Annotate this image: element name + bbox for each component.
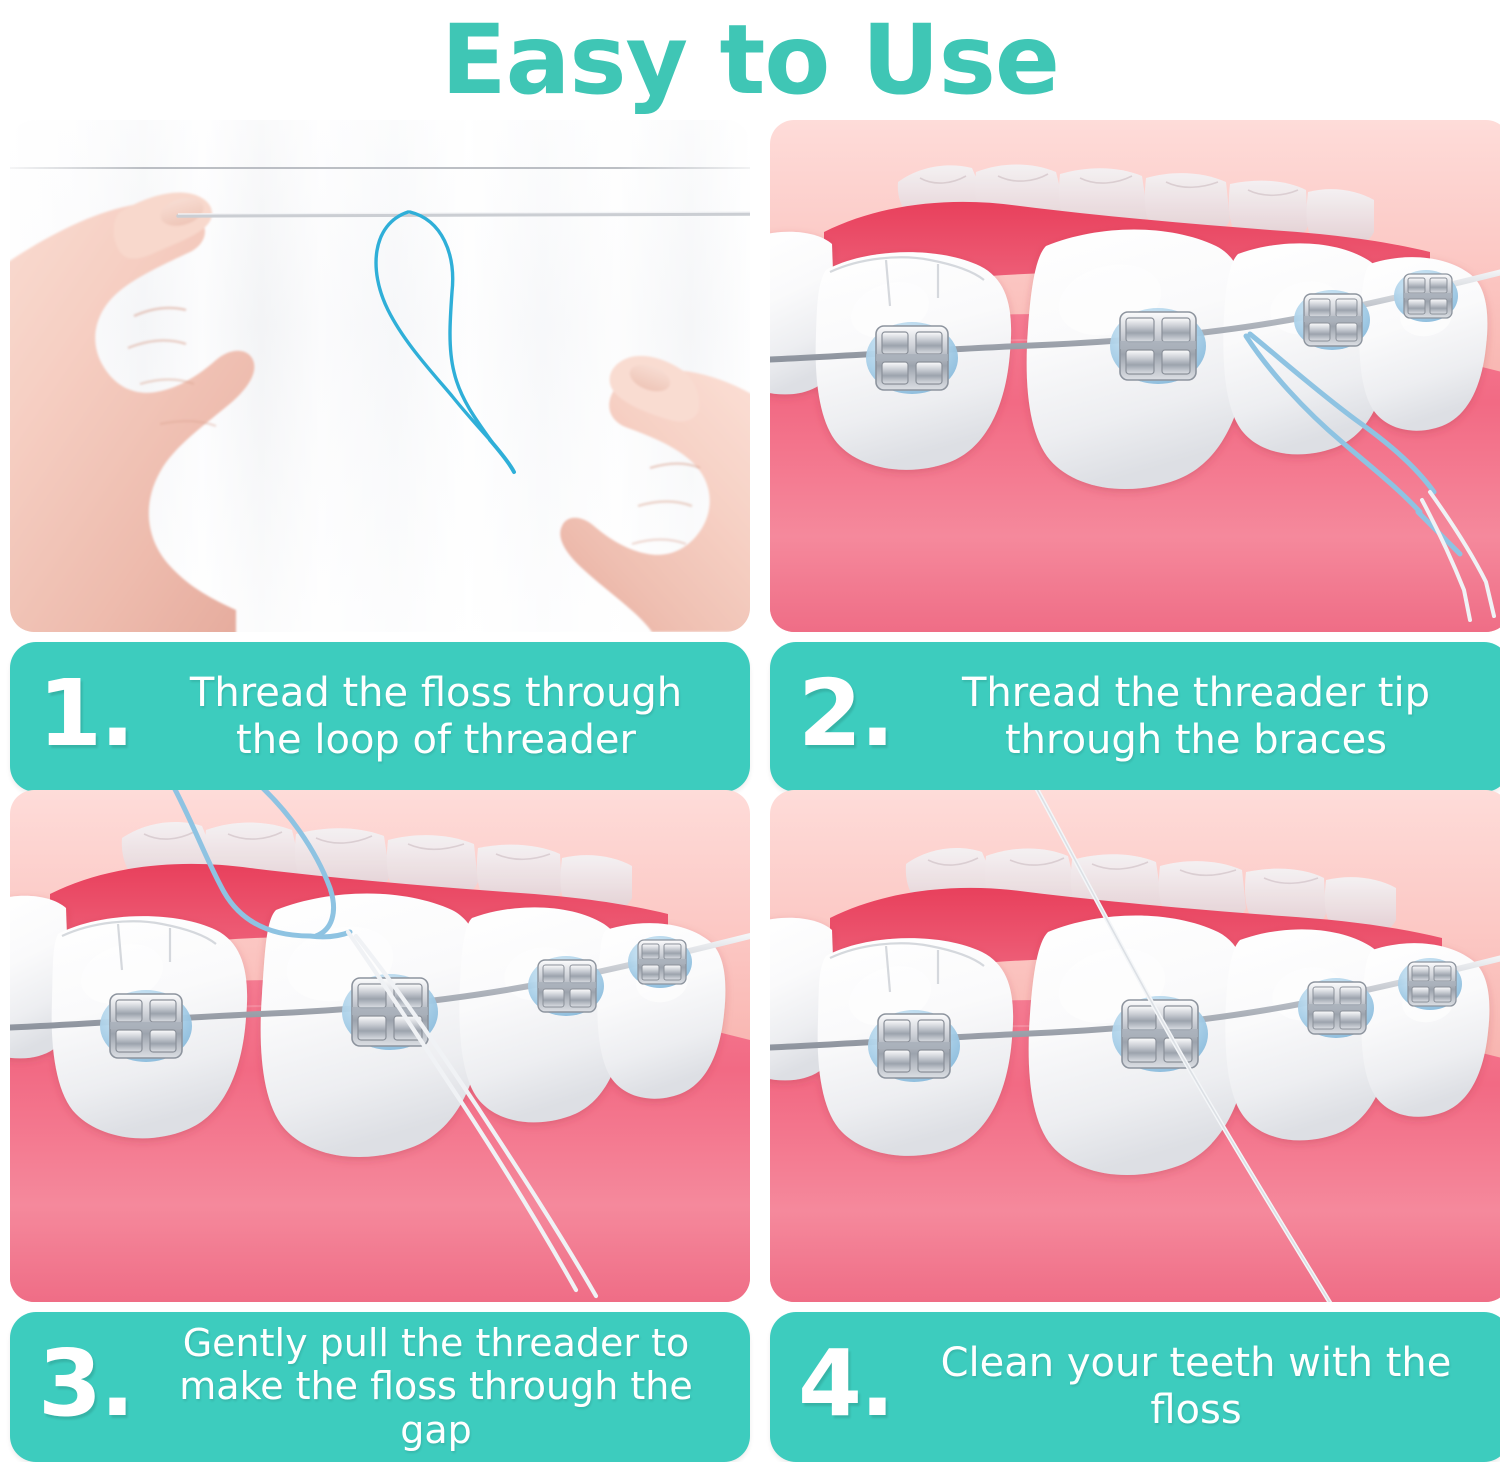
step-4-caption: 4. Clean your teeth with the floss (770, 1312, 1500, 1462)
step-3-number: 3. (38, 1342, 156, 1433)
step-3-caption: 3. Gently pull the threader to make the … (10, 1312, 750, 1462)
step-4-image (770, 790, 1500, 1302)
teeth-braces-illustration-3 (10, 790, 750, 1302)
bracket-1 (868, 1010, 960, 1082)
step-2-image (770, 120, 1500, 632)
bracket-1 (100, 990, 192, 1062)
step-3-image (10, 790, 750, 1302)
step-2-text: Thread the threader tip through the brac… (916, 670, 1486, 764)
bracket-3 (528, 956, 604, 1016)
blue-threader-loop (376, 212, 492, 442)
bracket-2 (1110, 308, 1206, 384)
hands-illustration (10, 120, 750, 632)
bracket-3 (1294, 290, 1370, 350)
step-1-text: Thread the floss through the loop of thr… (156, 670, 726, 764)
step-3-text: Gently pull the threader to make the flo… (156, 1322, 726, 1452)
teeth-braces-illustration-2 (770, 120, 1500, 632)
step-4-number: 4. (798, 1342, 916, 1433)
bracket-3 (1298, 978, 1374, 1038)
bracket-2 (342, 974, 438, 1050)
right-hand (560, 356, 750, 632)
teeth-braces-illustration-4 (770, 790, 1500, 1302)
step-1-caption: 1. Thread the floss through the loop of … (10, 642, 750, 792)
step-2-caption: 2. Thread the threader tip through the b… (770, 642, 1500, 792)
step-4-text: Clean your teeth with the floss (916, 1340, 1486, 1434)
step-1-number: 1. (38, 672, 156, 763)
steps-grid: 1. Thread the floss through the loop of … (0, 120, 1500, 1457)
bracket-2 (1112, 996, 1208, 1072)
step-1-image (10, 120, 750, 632)
bracket-4 (1398, 958, 1462, 1010)
bracket-4 (628, 936, 692, 988)
page-title: Easy to Use (441, 12, 1059, 108)
page-header: Easy to Use (0, 0, 1500, 120)
bracket-1 (866, 322, 958, 394)
bracket-4 (1394, 270, 1458, 322)
left-hand (10, 193, 254, 632)
step-2-number: 2. (798, 672, 916, 763)
